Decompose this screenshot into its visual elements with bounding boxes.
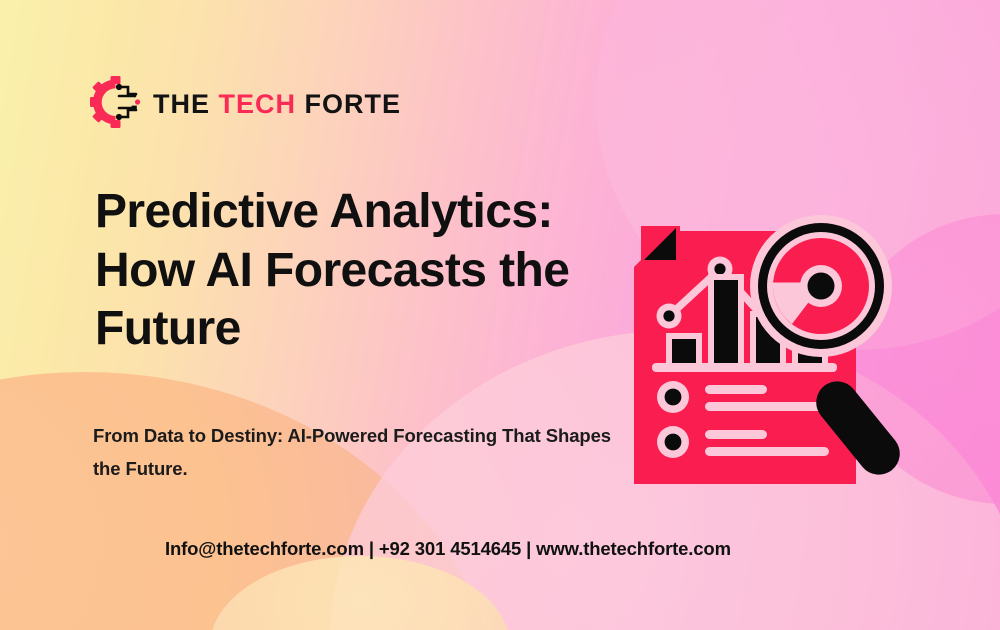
- background-blob-orange: [0, 372, 500, 630]
- gear-circuit-icon: [88, 74, 144, 135]
- headline: Predictive Analytics: How AI Forecasts t…: [95, 183, 640, 359]
- wordmark-tech: TECH: [219, 89, 297, 119]
- magnifier-pie-chart-icon: [750, 215, 892, 357]
- subheading: From Data to Destiny: AI-Powered Forecas…: [93, 420, 613, 486]
- brand-logo[interactable]: THE TECH FORTE: [88, 74, 401, 135]
- bar-chart-baseline: [652, 363, 837, 372]
- brand-wordmark: THE TECH FORTE: [153, 91, 401, 118]
- wordmark-forte: FORTE: [305, 89, 402, 119]
- predictive-analytics-illustration: [624, 166, 924, 486]
- contact-info: Info@thetechforte.com | +92 301 4514645 …: [165, 538, 731, 560]
- promo-banner: THE TECH FORTE Predictive Analytics: How…: [0, 0, 1000, 630]
- wordmark-the: THE: [153, 89, 210, 119]
- background-blob-cream: [210, 556, 510, 630]
